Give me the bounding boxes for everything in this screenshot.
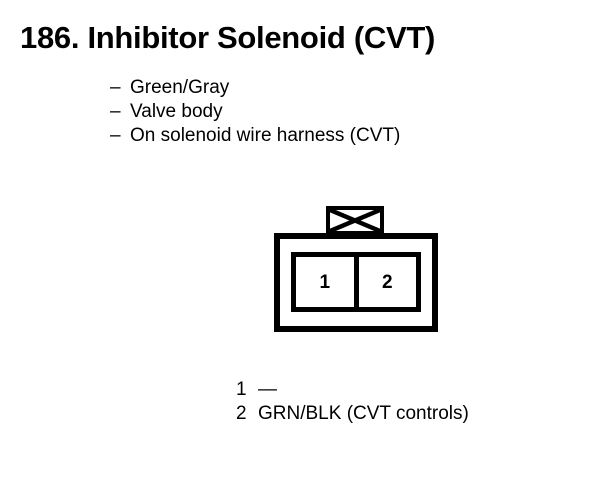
legend-wire-label: — (258, 378, 277, 402)
pin-number-label: 2 (382, 273, 393, 292)
pin-number-label: 1 (319, 273, 330, 292)
spec-item-label: On solenoid wire harness (CVT) (130, 125, 400, 146)
legend-wire-label: GRN/BLK (CVT controls) (258, 402, 469, 426)
spec-item-label: Valve body (130, 101, 223, 122)
connector-locking-tab (326, 206, 384, 235)
spec-item-harness: –On solenoid wire harness (CVT) (110, 124, 400, 148)
dash-bullet-icon: – (110, 100, 130, 124)
dash-bullet-icon: – (110, 124, 130, 148)
legend-row: 1 — (236, 378, 469, 402)
legend-pin-number: 1 (236, 378, 258, 402)
connector-pin-1: 1 (296, 257, 354, 307)
legend-pin-number: 2 (236, 402, 258, 426)
legend-row: 2 GRN/BLK (CVT controls) (236, 402, 469, 426)
connector-pin-2: 2 (354, 257, 417, 307)
connector-diagram: 1 2 (274, 206, 438, 332)
spec-item-color: –Green/Gray (110, 76, 400, 100)
spec-item-location: –Valve body (110, 100, 400, 124)
dash-bullet-icon: – (110, 76, 130, 100)
connector-pin-cavity: 1 2 (291, 252, 421, 312)
spec-item-label: Green/Gray (130, 77, 229, 98)
spec-list: –Green/Gray –Valve body –On solenoid wir… (110, 76, 400, 148)
pin-legend: 1 — 2 GRN/BLK (CVT controls) (236, 378, 469, 426)
page-title: 186. Inhibitor Solenoid (CVT) (20, 20, 435, 56)
page-canvas: 186. Inhibitor Solenoid (CVT) –Green/Gra… (0, 0, 608, 496)
